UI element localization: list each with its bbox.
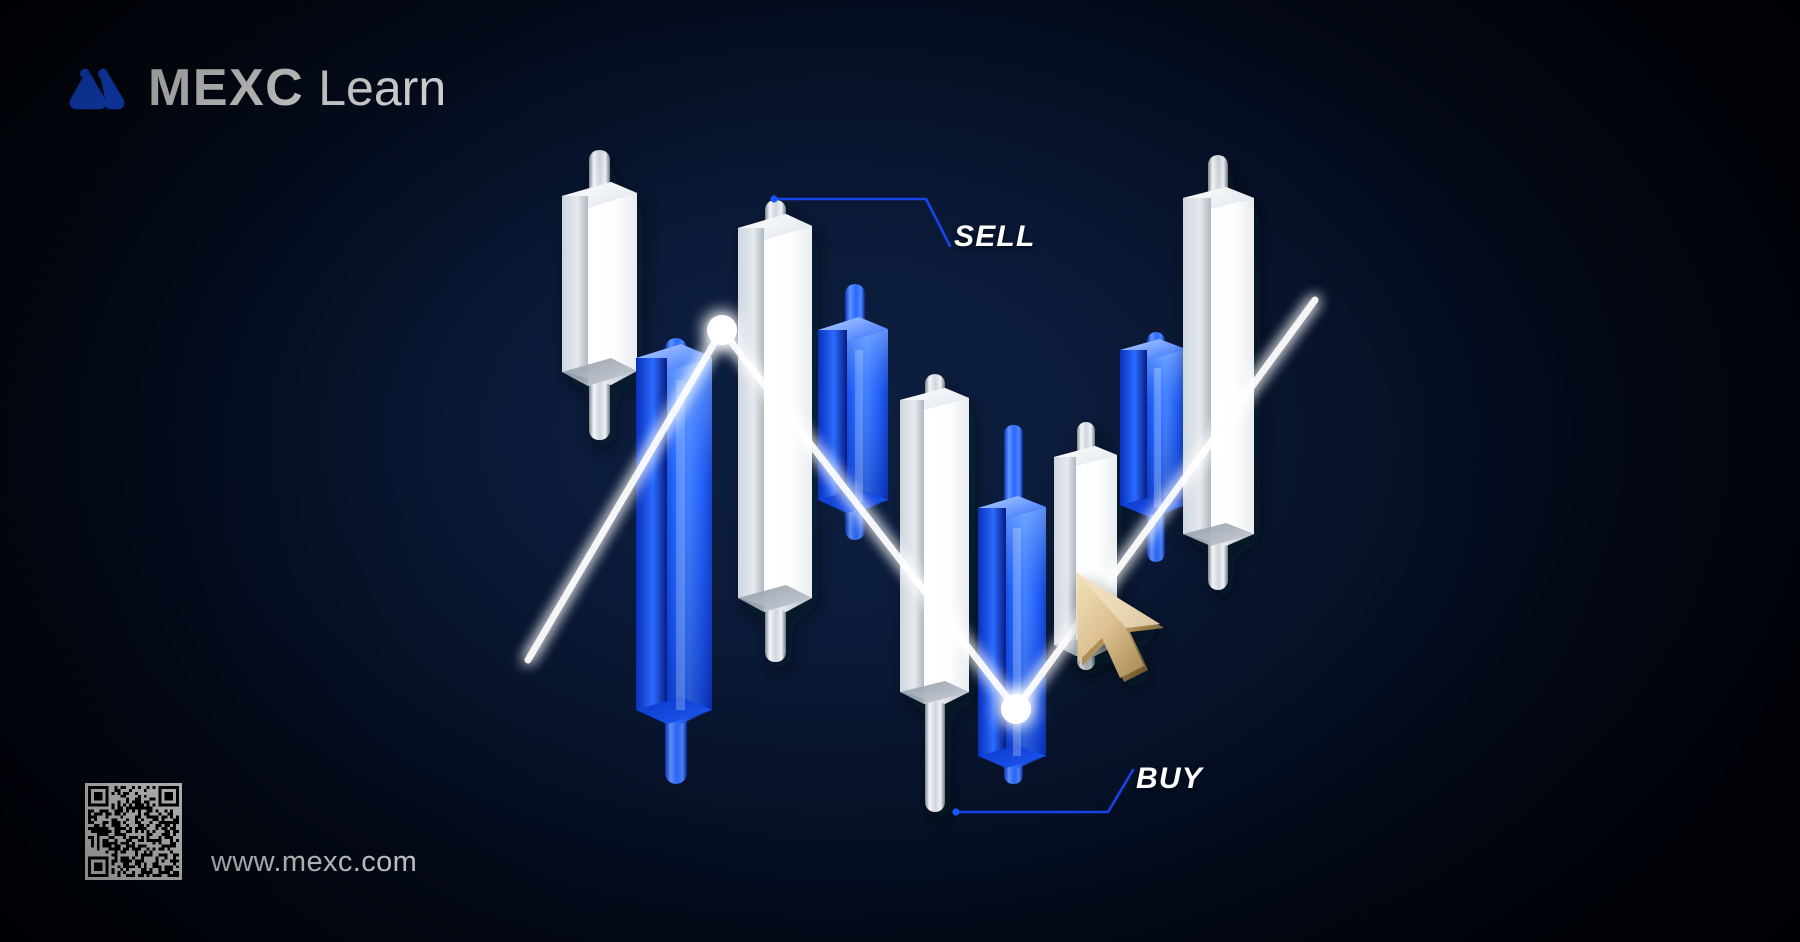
brand-product: Learn — [318, 63, 446, 113]
brand-lockup: MEXC Learn — [68, 62, 446, 114]
qr-code-icon[interactable] — [85, 783, 182, 880]
candle-5-white — [900, 374, 969, 812]
candle-9-white — [1183, 155, 1254, 590]
buy-label: BUY — [1136, 762, 1203, 796]
qr-code-canvas — [85, 783, 182, 880]
candle-6-blue — [978, 425, 1046, 784]
chart-svg — [0, 0, 1800, 942]
trend-marker-trough — [1001, 694, 1031, 724]
mexc-mountain-logo-icon — [68, 66, 134, 110]
brand-text: MEXC Learn — [148, 62, 446, 114]
promo-banner: MEXC Learn SELL BUY www.mexc.com — [0, 0, 1800, 942]
candlestick-chart-illustration — [0, 0, 1800, 942]
buy-callout-line — [952, 770, 1133, 816]
sell-label: SELL — [954, 220, 1035, 254]
brand-name: MEXC — [148, 62, 304, 114]
candle-1-white — [562, 150, 637, 440]
trend-marker-peak — [707, 315, 737, 345]
site-url: www.mexc.com — [211, 846, 417, 879]
